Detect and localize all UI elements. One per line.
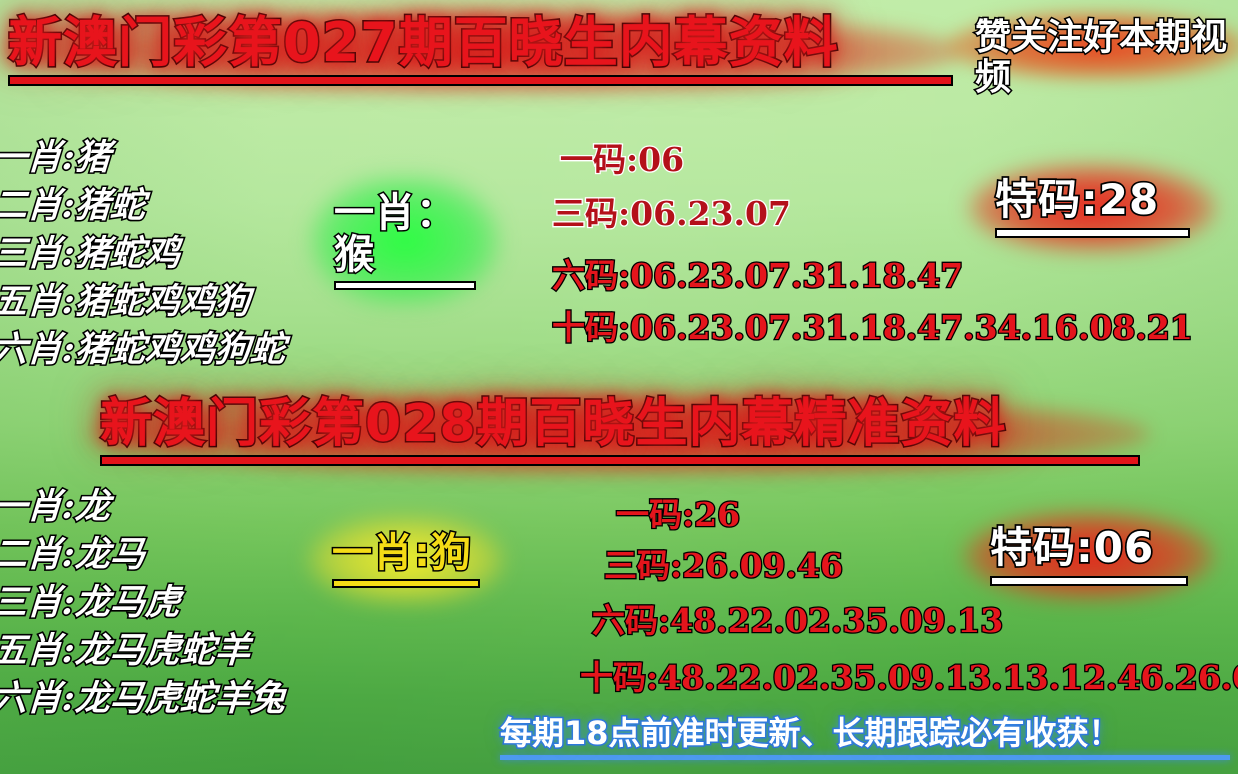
zodiac-row: 六肖:猪蛇鸡鸡狗蛇 (0, 326, 286, 374)
zodiac-row: 二肖:猪蛇 (0, 182, 286, 230)
section2-pick-block: 一肖:狗 (332, 532, 480, 588)
section2-special-block: 特码:06 (990, 526, 1188, 586)
section1-special-block: 特码:28 (995, 178, 1190, 238)
section2-special-text: 特码:06 (990, 526, 1188, 570)
footer-banner: 每期18点前准时更新、长期跟踪必有收获！ (500, 716, 1230, 760)
section2-code-6: 六码:48.22.02.35.09.13 (592, 603, 1003, 639)
section1-pick-underline (334, 281, 476, 290)
zodiac-row: 五肖:猪蛇鸡鸡狗 (0, 278, 286, 326)
zodiac-row: 六肖:龙马虎蛇羊兔 (0, 675, 286, 723)
promo-text: 赞关注好本期视频 (975, 18, 1238, 97)
poster-canvas: 新澳门彩第027期百晓生内幕资料 赞关注好本期视频 一肖:猪 二肖:猪蛇 三肖:… (0, 0, 1238, 774)
section1-code-1: 一码:06 (560, 142, 684, 178)
section1-code-3: 三码:06.23.07 (552, 196, 791, 232)
section2-title-underline (100, 455, 1140, 466)
zodiac-row: 三肖:猪蛇鸡 (0, 230, 286, 278)
zodiac-row: 一肖:猪 (0, 134, 286, 182)
section2-zodiac-list: 一肖:龙 二肖:龙马 三肖:龙马虎 五肖:龙马虎蛇羊 六肖:龙马虎蛇羊兔 (0, 483, 285, 723)
section2-pick-text: 一肖:狗 (332, 532, 480, 574)
section2-pick-underline (332, 579, 480, 588)
zodiac-row: 一肖:龙 (0, 483, 286, 531)
section1-code-10: 十码:06.23.07.31.18.47.34.16.08.21 (552, 310, 1193, 346)
section1-code-6: 六码:06.23.07.31.18.47 (552, 258, 963, 294)
footer-underline (500, 755, 1230, 760)
section2-code-10: 十码:48.22.02.35.09.13.13.12.46.26.03 (580, 660, 1238, 696)
zodiac-row: 五肖:龙马虎蛇羊 (0, 627, 286, 675)
section1-title-block: 新澳门彩第027期百晓生内幕资料 (8, 16, 953, 86)
section1-special-underline (995, 228, 1190, 238)
zodiac-row: 二肖:龙马 (0, 531, 286, 579)
zodiac-row: 三肖:龙马虎 (0, 579, 286, 627)
section1-special-text: 特码:28 (995, 178, 1190, 222)
section1-title-underline (8, 75, 953, 86)
section2-code-3: 三码:26.09.46 (604, 548, 843, 584)
section1-pick-text: 一肖：猴 (334, 192, 476, 276)
section2-title: 新澳门彩第028期百晓生内幕精准资料 (100, 398, 1140, 450)
section2-title-block: 新澳门彩第028期百晓生内幕精准资料 (100, 398, 1140, 466)
section1-zodiac-list: 一肖:猪 二肖:猪蛇 三肖:猪蛇鸡 五肖:猪蛇鸡鸡狗 六肖:猪蛇鸡鸡狗蛇 (0, 134, 285, 374)
section2-special-underline (990, 576, 1188, 586)
section1-title: 新澳门彩第027期百晓生内幕资料 (8, 16, 953, 70)
footer-text: 每期18点前准时更新、长期跟踪必有收获！ (500, 716, 1230, 751)
section1-pick-block: 一肖：猴 (334, 192, 476, 290)
section2-code-1: 一码:26 (616, 497, 740, 533)
promo-block: 赞关注好本期视频 (975, 18, 1238, 97)
